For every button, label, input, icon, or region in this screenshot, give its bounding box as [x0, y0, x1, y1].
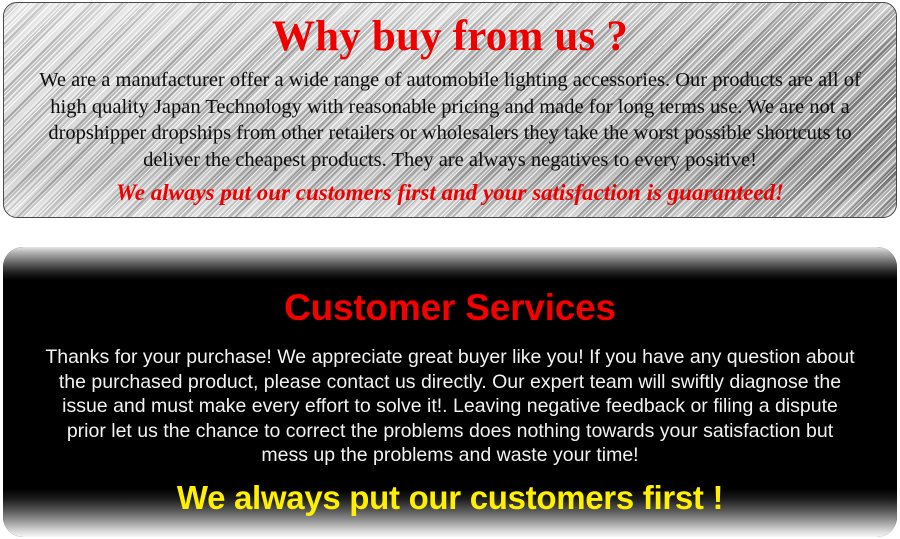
black-panel-content: Customer Services Thanks for your purcha…: [3, 247, 897, 519]
metal-panel-content: Why buy from us ? We are a manufacturer …: [4, 3, 896, 208]
why-buy-from-us-title: Why buy from us ?: [26, 9, 874, 65]
why-buy-from-us-panel: Why buy from us ? We are a manufacturer …: [3, 2, 897, 218]
banner-page: Why buy from us ? We are a manufacturer …: [0, 0, 900, 539]
why-buy-from-us-body: We are a manufacturer offer a wide range…: [34, 67, 866, 173]
customer-services-panel: Customer Services Thanks for your purcha…: [3, 247, 897, 537]
customers-first-tagline: We always put our customers first !: [23, 477, 877, 519]
customer-services-title: Customer Services: [23, 285, 877, 331]
satisfaction-guarantee-tagline: We always put our customers first and yo…: [26, 178, 874, 208]
customer-services-body: Thanks for your purchase! We appreciate …: [41, 345, 859, 468]
